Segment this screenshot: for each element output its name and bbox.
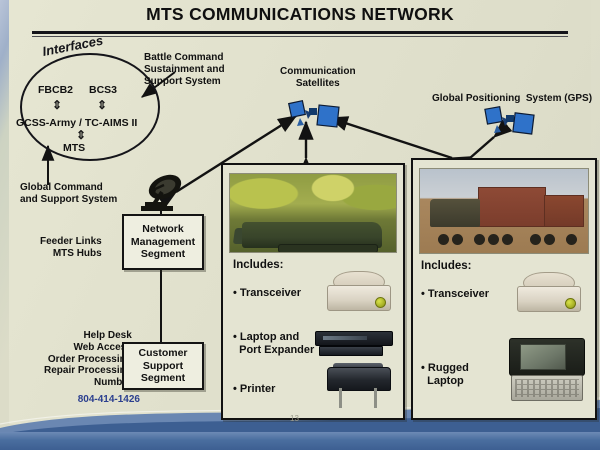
includes-header-center: Includes: (233, 259, 283, 271)
truck-wheels (434, 234, 584, 245)
laptop-port-expander-icon (315, 331, 391, 359)
include-item-laptop-port-expander: • Laptop and Port Expander (233, 331, 314, 356)
callout-help-desk: Help Desk Web Access Order Processing Re… (44, 330, 132, 389)
double-arrow-icon: ⇕ (52, 98, 62, 112)
includes-header-right: Includes: (421, 260, 471, 272)
interface-node-fbcb2: FBCB2 (38, 84, 73, 96)
title-divider-shadow (32, 36, 568, 37)
gps-satellite-icon (484, 104, 540, 142)
callout-battle-command: Battle Command Sustainment and Support S… (144, 52, 225, 87)
callout-global-command: Global Command and Support System (20, 182, 117, 206)
panel-tracked-vehicle: Includes: • Transceiver • Laptop and Por… (221, 163, 405, 420)
transceiver-icon (517, 272, 579, 312)
interface-node-mts: MTS (63, 142, 85, 154)
include-item-transceiver-center: • Transceiver (233, 287, 301, 300)
panel-hemtt-truck: Includes: • Transceiver • Rugged Laptop (411, 158, 597, 420)
printer-icon (327, 363, 389, 411)
photo-hemtt-truck (419, 168, 589, 254)
page-number: 13 (290, 414, 299, 423)
satellite-dish-icon (132, 174, 192, 216)
title-divider (32, 31, 568, 34)
include-item-transceiver-right: • Transceiver (421, 288, 489, 301)
interface-node-bcs3: BCS3 (89, 84, 117, 96)
page-title: MTS COMMUNICATIONS NETWORK (0, 4, 600, 25)
slide-canvas: MTS COMMUNICATIONS NETWORK In (0, 0, 600, 450)
box-network-management-segment[interactable]: Network Management Segment (122, 214, 204, 270)
communication-satellite-icon (288, 98, 344, 134)
double-arrow-icon: ⇕ (97, 98, 107, 112)
rugged-laptop-icon (509, 338, 583, 400)
box-customer-support-segment[interactable]: Customer Support Segment (122, 342, 204, 390)
include-item-printer: • Printer (233, 383, 275, 396)
help-desk-phone-number: 804-414-1426 (30, 394, 140, 405)
label-communication-satellites: Communication Satellites (280, 66, 356, 90)
interfaces-circle (20, 53, 160, 161)
include-item-rugged-laptop: • Rugged Laptop (421, 362, 469, 387)
photo-tracked-vehicle (229, 173, 397, 253)
transceiver-icon (327, 271, 389, 311)
double-arrow-icon: ⇕ (76, 128, 86, 142)
callout-feeder-links: Feeder Links MTS Hubs (40, 236, 102, 260)
